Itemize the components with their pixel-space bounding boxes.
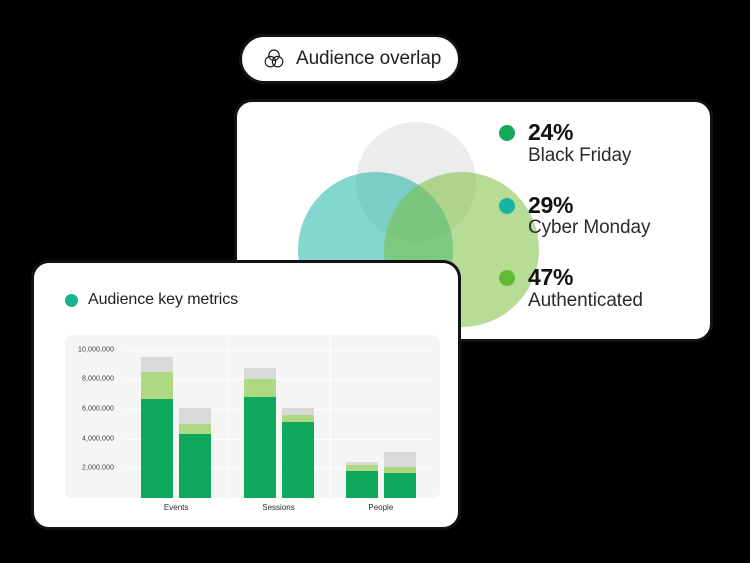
chart-bar-segment [141,399,173,498]
chart-bar-segment [282,408,314,415]
metrics-card-header: Audience key metrics [65,291,238,309]
metrics-status-dot [65,294,78,307]
chart-gridline [125,350,432,351]
audience-overlap-label: Audience overlap [296,48,441,70]
legend-item-authenticated[interactable]: 47% Authenticated [499,265,650,313]
chart-bar-segment [282,415,314,422]
audience-overlap-pill[interactable]: Audience overlap [239,34,461,84]
chart-bar[interactable] [179,408,211,498]
legend-percent-authenticated: 47% [528,265,643,290]
y-axis-tick-label: 4,000,000 [82,435,114,442]
chart-bar-segment [179,424,211,434]
chart-bar-segment [244,379,276,397]
legend-label-black-friday: Black Friday [528,145,631,168]
chart-bar[interactable] [141,357,173,498]
y-axis-tick-label: 6,000,000 [82,406,114,413]
legend-dot-authenticated [499,270,515,286]
chart-bar[interactable] [346,462,378,498]
x-axis-label-events: Events [164,503,188,512]
legend-dot-black-friday [499,125,515,141]
chart-bar-segment [384,452,416,467]
chart-bar[interactable] [384,452,416,498]
audience-metrics-chart: 2,000,0004,000,0006,000,0008,000,00010,0… [65,335,440,506]
chart-bar[interactable] [244,368,276,498]
y-axis-tick-label: 8,000,000 [82,376,114,383]
audience-key-metrics-card: Audience key metrics 2,000,0004,000,0006… [31,260,461,530]
chart-bar-segment [141,372,173,399]
chart-bar-segment [179,408,211,424]
chart-bar-segment [244,368,276,380]
x-axis-label-people: People [368,503,393,512]
y-axis-tick-label: 2,000,000 [82,465,114,472]
chart-bar-segment [244,397,276,498]
chart-bar-segment [141,357,173,372]
legend-item-cyber-monday[interactable]: 29% Cyber Monday [499,193,650,241]
chart-bar-segment [282,422,314,498]
legend-percent-cyber-monday: 29% [528,193,650,218]
chart-bar[interactable] [282,408,314,498]
metrics-card-title: Audience key metrics [88,291,238,309]
legend-percent-black-friday: 24% [528,120,631,145]
chart-bar-segment [384,473,416,498]
legend-dot-cyber-monday [499,198,515,214]
x-axis-label-sessions: Sessions [262,503,294,512]
chart-category-separator [227,335,228,498]
legend-item-black-friday[interactable]: 24% Black Friday [499,120,650,168]
legend-label-cyber-monday: Cyber Monday [528,217,650,240]
chart-category-separator [330,335,331,498]
chart-bar-segment [346,471,378,498]
legend-label-authenticated: Authenticated [528,290,643,313]
chart-bar-segment [179,434,211,498]
y-axis-tick-label: 10,000,000 [78,346,114,353]
overlap-legend: 24% Black Friday 29% Cyber Monday 47% Au… [499,120,650,313]
venn-overlap-icon [262,47,286,71]
chart-plot-area: 2,000,0004,000,0006,000,0008,000,00010,0… [125,335,432,498]
